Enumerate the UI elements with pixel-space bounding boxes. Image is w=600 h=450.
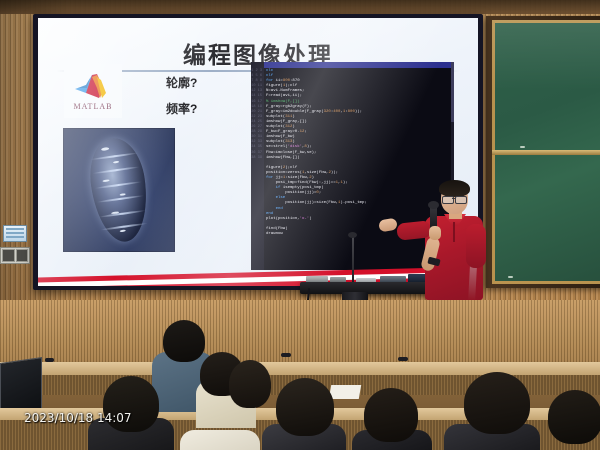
audience-body: [180, 430, 260, 450]
phone[interactable]: [45, 358, 54, 362]
matlab-wordmark: MATLAB: [74, 102, 113, 111]
audience-head: [548, 390, 600, 444]
matlab-membrane-icon: [73, 71, 113, 101]
audience-head: [163, 320, 205, 362]
code-text: clc clf for ii=800:870 figure(1);clf N=a…: [266, 69, 452, 237]
presenter-right-arm: [466, 224, 486, 268]
chalkboard-glare: [492, 20, 600, 90]
code-line-numbers: 1 2 3 4 5 6 7 8 9 10 11 12 13 14 15 16 1…: [251, 62, 264, 270]
wall-power-outlets: [0, 247, 30, 264]
laptop[interactable]: [0, 357, 42, 415]
chalkboard-rail: [492, 150, 600, 155]
presenter-placket: [453, 222, 455, 242]
audience-head: [364, 388, 418, 442]
question-contour: 轮廓?: [166, 74, 197, 91]
audience-head: [276, 378, 334, 436]
gooseneck-microphone-icon: [348, 232, 357, 238]
chalk-mark: [520, 146, 525, 148]
wall-notice-sign: [3, 225, 27, 242]
paper-sheet: [329, 385, 361, 399]
wall-top-trim: [0, 0, 600, 14]
eyeglasses-icon: [455, 196, 467, 204]
timestamp: 2023/10/18 14:07: [24, 411, 132, 425]
matlab-logo: MATLAB: [64, 64, 122, 118]
eyeglasses-bridge: [452, 198, 455, 199]
presenter-right-hand: [429, 226, 441, 240]
microphone-stand: [352, 236, 354, 286]
specimen-photo: [63, 128, 175, 252]
phone[interactable]: [398, 357, 408, 361]
desk-row: [0, 362, 600, 375]
presenter-hair: [439, 180, 470, 197]
audience-head: [229, 360, 271, 408]
microphone-head-icon: [428, 201, 439, 209]
question-frequency: 频率?: [166, 100, 197, 117]
presentation-slide: 编程图像处理 MATLAB 轮廓? 频率?: [38, 18, 478, 286]
phone[interactable]: [281, 353, 291, 357]
back-wall-slats: [0, 300, 600, 362]
audience-head: [464, 372, 530, 434]
code-selected-line: [264, 62, 454, 68]
specimen-object: [85, 135, 153, 246]
chalk-mark: [508, 276, 513, 278]
lecture-photo: 编程图像处理 MATLAB 轮廓? 频率?: [0, 0, 600, 450]
